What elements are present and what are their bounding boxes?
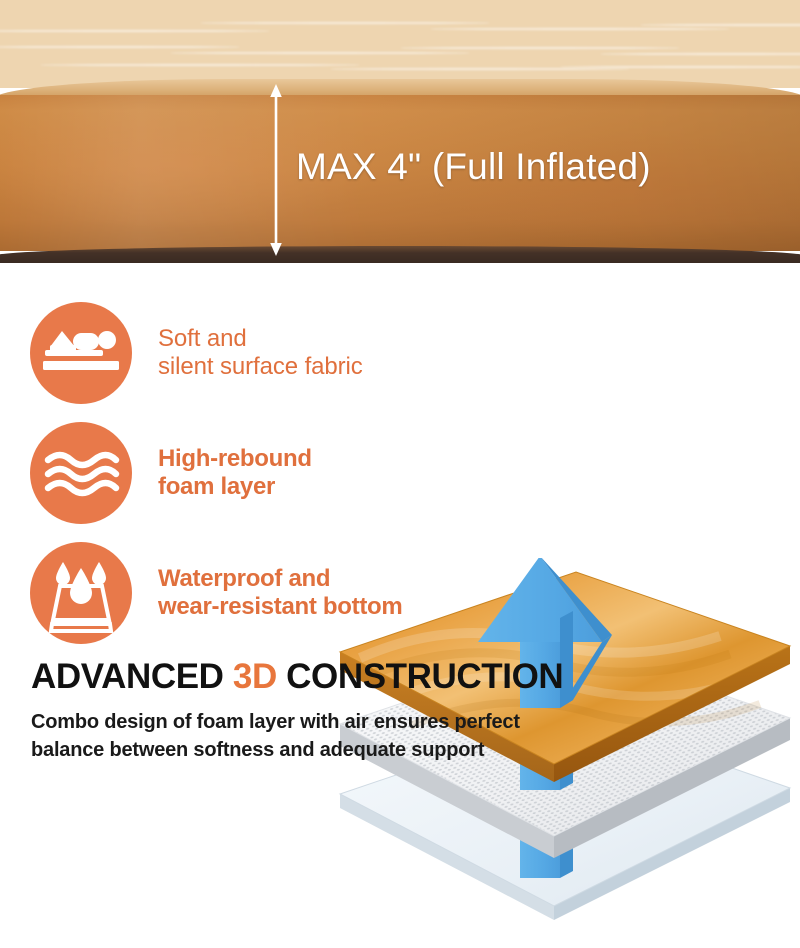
headline-accent: 3D bbox=[233, 657, 277, 696]
wavy-lines-icon bbox=[30, 422, 132, 524]
page-subcopy: Combo design of foam layer with air ensu… bbox=[31, 708, 520, 765]
surface-ripple bbox=[400, 47, 680, 49]
mattress-top-surface bbox=[0, 0, 800, 88]
headline-pre: ADVANCED bbox=[31, 657, 233, 696]
page-headline: ADVANCED 3D CONSTRUCTION bbox=[31, 657, 563, 697]
double-headed-vertical-arrow-icon bbox=[268, 84, 284, 256]
feature-item-waterproof-bottom: Waterproof and wear-resistant bottom bbox=[30, 542, 402, 644]
feature-label: High-rebound foam layer bbox=[158, 445, 312, 501]
surface-ripple bbox=[40, 64, 360, 66]
surface-ripple bbox=[200, 22, 490, 24]
feature-label: Waterproof and wear-resistant bottom bbox=[158, 565, 402, 621]
hero-product-image: MAX 4" (Full Inflated) bbox=[0, 0, 800, 263]
surface-ripple bbox=[170, 52, 470, 54]
surface-ripple bbox=[330, 68, 630, 70]
person-lying-on-mattress-icon bbox=[30, 302, 132, 404]
surface-ripple bbox=[0, 46, 240, 48]
mattress-ground-shadow bbox=[0, 246, 800, 263]
feature-item-foam-layer: High-rebound foam layer bbox=[30, 422, 312, 524]
feature-label: Soft and silent surface fabric bbox=[158, 325, 363, 381]
water-droplets-on-base-icon bbox=[30, 542, 132, 644]
dimension-label: MAX 4" (Full Inflated) bbox=[296, 146, 651, 188]
headline-post: CONSTRUCTION bbox=[277, 657, 563, 696]
feature-item-soft-surface: Soft and silent surface fabric bbox=[30, 302, 363, 404]
surface-ripple bbox=[430, 28, 730, 30]
